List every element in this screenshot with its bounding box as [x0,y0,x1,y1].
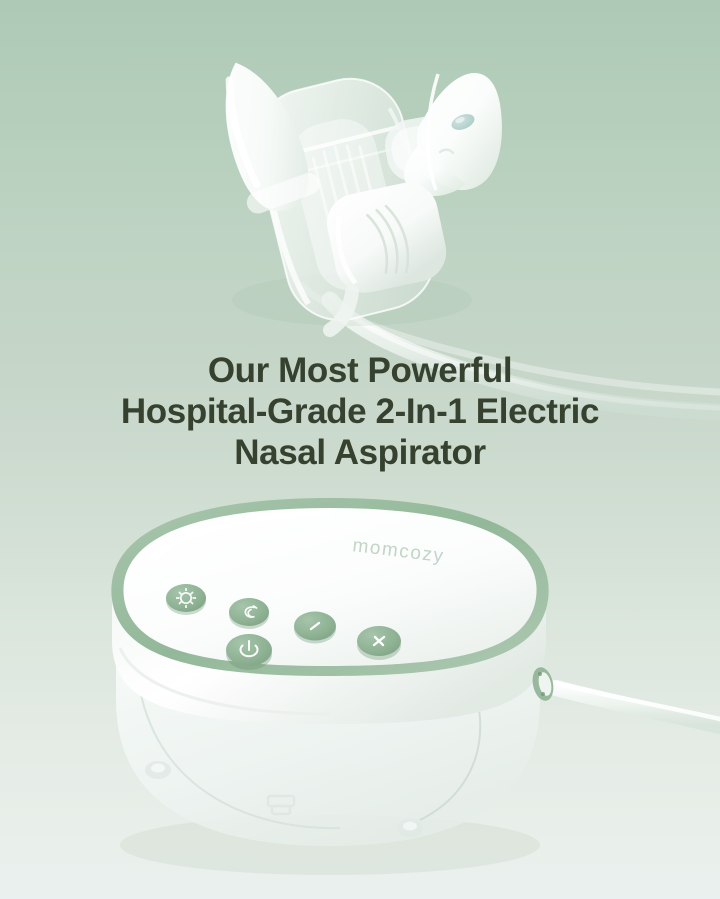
product-hero-image: Our Most Powerful Hospital-Grade 2-In-1 … [0,0,720,899]
headline-line-2: Hospital-Grade 2-In-1 Electric [0,391,720,432]
minus-button[interactable] [294,612,336,644]
headline: Our Most Powerful Hospital-Grade 2-In-1 … [0,350,720,473]
mode-button[interactable] [229,598,269,629]
plus-button[interactable] [357,626,401,660]
light-button[interactable] [166,584,206,615]
headline-line-1: Our Most Powerful [0,350,720,391]
power-button[interactable] [226,634,272,670]
headline-line-3: Nasal Aspirator [0,432,720,473]
